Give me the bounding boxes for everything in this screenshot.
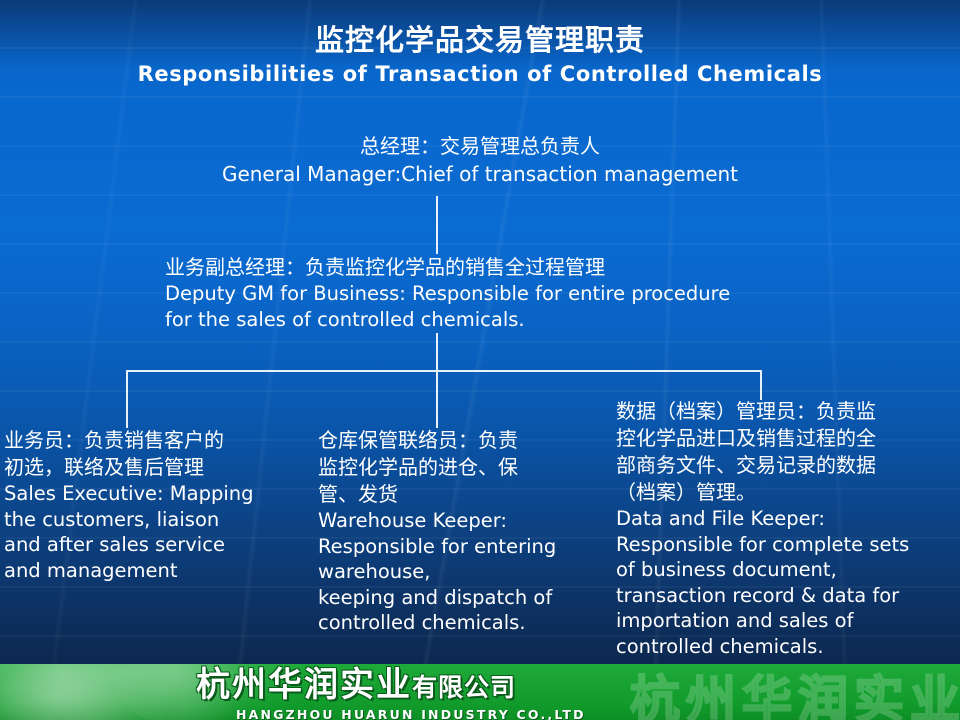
connector-deputy-stem [436, 333, 438, 371]
org-node-sales-executive-en: Sales Executive: Mapping the customers, … [4, 481, 304, 583]
company-logo-cn-main: 杭州华润实业 [196, 665, 412, 705]
org-node-data-file-keeper-en: Data and File Keeper: Responsible for co… [616, 506, 956, 659]
company-logo-en: HANGZHOU HUARUN INDUSTRY CO.,LTD [236, 707, 796, 720]
connector-bus-to-sales [126, 370, 128, 428]
slide-title-block: 监控化学品交易管理职责 Responsibilities of Transact… [0, 22, 960, 88]
connector-bus-to-warehouse [436, 370, 438, 428]
org-node-general-manager-cn: 总经理：交易管理总负责人 [0, 132, 960, 160]
org-node-data-file-keeper-cn: 数据（档案）管理员：负责监 控化学品进口及销售过程的全 部商务文件、交易记录的数… [616, 398, 956, 506]
page-title-en: Responsibilities of Transaction of Contr… [0, 60, 960, 88]
page-title-cn: 监控化学品交易管理职责 [0, 22, 960, 58]
org-node-data-file-keeper[interactable]: 数据（档案）管理员：负责监 控化学品进口及销售过程的全 部商务文件、交易记录的数… [616, 398, 956, 659]
org-node-deputy-gm-en: Deputy GM for Business: Responsible for … [165, 281, 865, 333]
connector-gm-to-deputy [436, 196, 438, 254]
connector-horizontal-bus [126, 370, 762, 372]
connector-bus-to-data [760, 370, 762, 400]
company-logo-cn: 杭州华润实业有限公司 [196, 667, 796, 706]
org-node-general-manager[interactable]: 总经理：交易管理总负责人 General Manager:Chief of tr… [0, 132, 960, 189]
org-node-warehouse-keeper-cn: 仓库保管联络员：负责 监控化学品的进仓、保 管、发货 [318, 427, 608, 508]
org-node-sales-executive[interactable]: 业务员：负责销售客户的 初选，联络及售后管理 Sales Executive: … [4, 427, 304, 583]
company-logo-cn-suffix: 有限公司 [412, 673, 516, 702]
org-node-sales-executive-cn: 业务员：负责销售客户的 初选，联络及售后管理 [4, 427, 304, 481]
company-logo: 杭州华润实业有限公司 HANGZHOU HUARUN INDUSTRY CO.,… [196, 667, 796, 720]
org-node-deputy-gm-cn: 业务副总经理：负责监控化学品的销售全过程管理 [165, 253, 865, 281]
org-node-warehouse-keeper-en: Warehouse Keeper: Responsible for enteri… [318, 508, 608, 636]
org-node-warehouse-keeper[interactable]: 仓库保管联络员：负责 监控化学品的进仓、保 管、发货 Warehouse Kee… [318, 427, 608, 636]
slide-canvas: 监控化学品交易管理职责 Responsibilities of Transact… [0, 0, 960, 720]
org-node-deputy-gm[interactable]: 业务副总经理：负责监控化学品的销售全过程管理 Deputy GM for Bus… [165, 253, 865, 333]
footer-brand-band: 杭州华润实业 杭州华润实业有限公司 HANGZHOU HUARUN INDUST… [0, 664, 960, 720]
org-node-general-manager-en: General Manager:Chief of transaction man… [0, 160, 960, 189]
